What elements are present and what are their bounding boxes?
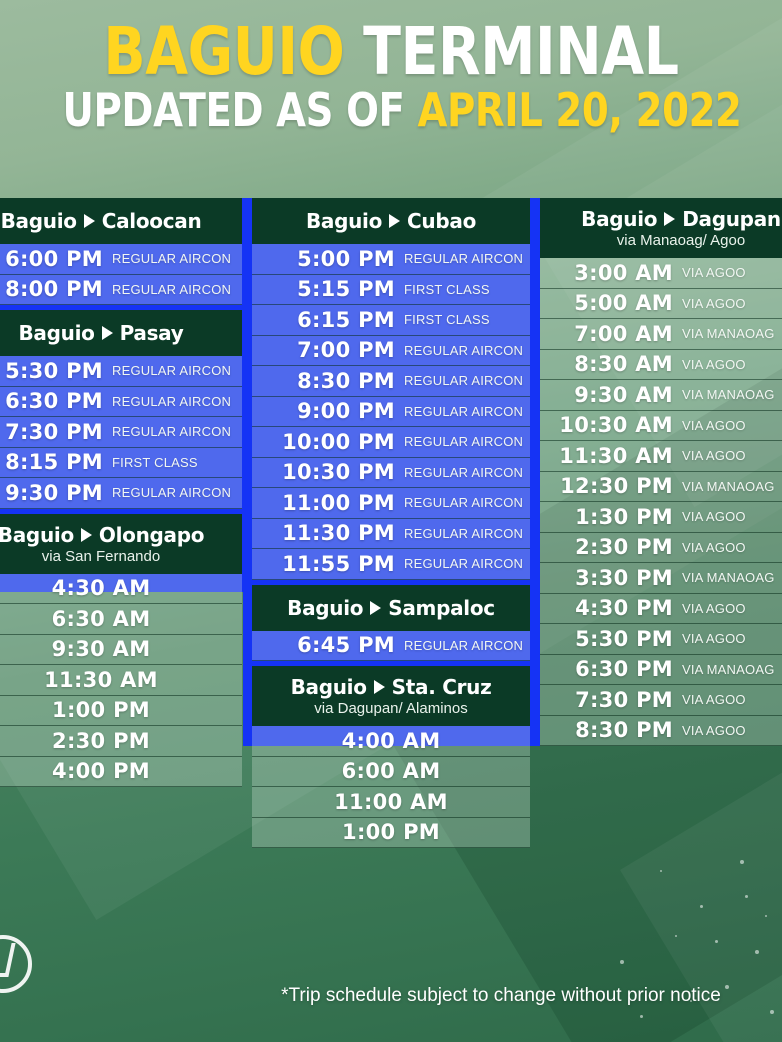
route-destination: Olongapo [99, 523, 204, 547]
route-via: via San Fernando [0, 548, 236, 565]
trip-class: FIRST CLASS [404, 282, 530, 297]
arrow-right-icon [389, 214, 400, 228]
trip-class: VIA AGOO [682, 540, 782, 555]
trip-list: 4:30 AM6:30 AM9:30 AM11:30 AM1:00 PM2:30… [0, 574, 242, 788]
title-line-primary: BAGUIO TERMINAL [63, 22, 720, 83]
section-header: BaguioPasay [0, 310, 242, 356]
route-title: BaguioSampaloc [258, 596, 524, 620]
poster-canvas: BAGUIO TERMINAL UPDATED AS OF APRIL 20, … [0, 0, 782, 1042]
trip-row[interactable]: 6:45 PMREGULAR AIRCON [252, 631, 530, 662]
trip-row[interactable]: 8:30 AMVIA AGOO [540, 350, 782, 381]
trip-row[interactable]: 5:00 PMREGULAR AIRCON [252, 244, 530, 275]
trip-time: 10:30 AM [540, 413, 682, 437]
trip-time: 1:30 PM [540, 505, 682, 529]
trip-time: 4:00 PM [52, 759, 150, 783]
decorative-dot [660, 870, 662, 872]
trip-time: 2:30 PM [540, 535, 682, 559]
trip-class: VIA AGOO [682, 357, 782, 372]
trip-row[interactable]: 5:30 PMVIA AGOO [540, 624, 782, 655]
route-title: BaguioPasay [0, 321, 236, 345]
route-destination: Caloocan [102, 209, 202, 233]
trip-row[interactable]: 1:00 PM [0, 696, 242, 727]
trip-row[interactable]: 9:00 PMREGULAR AIRCON [252, 397, 530, 428]
trip-row[interactable]: 9:30 AMVIA MANAOAG [540, 380, 782, 411]
trip-time: 3:00 AM [540, 261, 682, 285]
section-header: BaguioSampaloc [252, 585, 530, 631]
trip-class: REGULAR AIRCON [404, 434, 530, 449]
trip-list: 5:00 PMREGULAR AIRCON5:15 PMFIRST CLASS6… [252, 244, 530, 580]
title-line-secondary: UPDATED AS OF APRIL 20, 2022 [63, 89, 720, 131]
trip-row[interactable]: 8:15 PMFIRST CLASS [0, 448, 242, 479]
route-destination: Pasay [120, 321, 184, 345]
trip-class: VIA MANAOAG [682, 570, 782, 585]
trip-list: 5:30 PMREGULAR AIRCON6:30 PMREGULAR AIRC… [0, 356, 242, 509]
trip-class: VIA MANAOAG [682, 326, 782, 341]
route-origin: Baguio [18, 321, 94, 345]
footer-disclaimer: *Trip schedule subject to change without… [0, 985, 782, 1007]
schedule-section: BaguioSta. Cruzvia Dagupan/ Alaminos4:00… [252, 666, 530, 848]
trip-row[interactable]: 6:00 AM [252, 757, 530, 788]
trip-time: 4:30 PM [540, 596, 682, 620]
title-updated-label: UPDATED AS OF [63, 83, 405, 137]
trip-class: VIA AGOO [682, 296, 782, 311]
trip-time: 11:30 AM [44, 668, 158, 692]
route-destination: Cubao [407, 209, 476, 233]
trip-time: 6:00 AM [342, 759, 441, 783]
trip-row[interactable]: 11:55 PMREGULAR AIRCON [252, 549, 530, 580]
title-terminal: TERMINAL [363, 13, 678, 90]
schedule-section: BaguioPasay5:30 PMREGULAR AIRCON6:30 PMR… [0, 310, 242, 509]
trip-class: FIRST CLASS [112, 455, 242, 470]
trip-time: 5:30 PM [540, 627, 682, 651]
section-header: BaguioDagupanvia Manaoag/ Agoo [540, 198, 782, 258]
schedule-section: BaguioSampaloc6:45 PMREGULAR AIRCON [252, 585, 530, 662]
trip-class: REGULAR AIRCON [404, 556, 530, 571]
arrow-right-icon [370, 601, 381, 615]
trip-class: VIA AGOO [682, 448, 782, 463]
trip-row[interactable]: 10:30 PMREGULAR AIRCON [252, 458, 530, 489]
trip-time: 6:15 PM [252, 308, 404, 332]
trip-row[interactable]: 8:30 PMVIA AGOO [540, 716, 782, 747]
trip-row[interactable]: 8:30 PMREGULAR AIRCON [252, 366, 530, 397]
trip-row[interactable]: 11:00 PMREGULAR AIRCON [252, 488, 530, 519]
decorative-dot [675, 935, 677, 937]
trip-time: 11:30 PM [252, 521, 404, 545]
trip-row[interactable]: 4:30 PMVIA AGOO [540, 594, 782, 625]
decorative-dot [700, 905, 703, 908]
trip-list: 4:00 AM6:00 AM11:00 AM1:00 PM [252, 726, 530, 848]
trip-class: VIA AGOO [682, 601, 782, 616]
trip-row[interactable]: 6:30 PMVIA MANAOAG [540, 655, 782, 686]
trip-class: VIA AGOO [682, 418, 782, 433]
schedule-column-center: BaguioCubao5:00 PMREGULAR AIRCON5:15 PMF… [252, 198, 530, 848]
decorative-dot [755, 950, 759, 954]
route-via: via Manaoag/ Agoo [546, 232, 782, 249]
trip-time: 5:30 PM [0, 359, 112, 383]
trip-time: 6:00 PM [0, 247, 112, 271]
trip-time: 4:00 AM [342, 729, 441, 753]
trip-class: REGULAR AIRCON [404, 495, 530, 510]
trip-time: 11:30 AM [540, 444, 682, 468]
route-origin: Baguio [291, 675, 367, 699]
trip-class: REGULAR AIRCON [112, 424, 242, 439]
trip-row[interactable]: 6:30 AM [0, 604, 242, 635]
trip-row[interactable]: 4:30 AM [0, 574, 242, 605]
section-header: BaguioCaloocan [0, 198, 242, 244]
trip-row[interactable]: 5:15 PMFIRST CLASS [252, 275, 530, 306]
route-origin: Baguio [0, 523, 74, 547]
trip-row[interactable]: 7:00 AMVIA MANAOAG [540, 319, 782, 350]
trip-row[interactable]: 6:00 PMREGULAR AIRCON [0, 244, 242, 275]
trip-time: 3:30 PM [540, 566, 682, 590]
trip-time: 9:00 PM [252, 399, 404, 423]
trip-row[interactable]: 11:30 AM [0, 665, 242, 696]
trip-time: 8:30 AM [540, 352, 682, 376]
decorative-dot [740, 860, 744, 864]
trip-time: 5:00 PM [252, 247, 404, 271]
trip-row[interactable]: 7:30 PMVIA AGOO [540, 685, 782, 716]
decorative-dot [765, 915, 767, 917]
trip-row[interactable]: 11:30 PMREGULAR AIRCON [252, 519, 530, 550]
arrow-right-icon [81, 528, 92, 542]
trip-time: 10:00 PM [252, 430, 404, 454]
trip-time: 2:30 PM [52, 729, 150, 753]
trip-class: REGULAR AIRCON [404, 404, 530, 419]
route-title: BaguioOlongapo [0, 523, 236, 547]
trip-class: VIA AGOO [682, 692, 782, 707]
trip-class: VIA MANAOAG [682, 479, 782, 494]
trip-time: 6:30 PM [0, 389, 112, 413]
trip-row[interactable]: 9:30 AM [0, 635, 242, 666]
decorative-dot [620, 960, 624, 964]
trip-list: 6:45 PMREGULAR AIRCON [252, 631, 530, 662]
schedule-section: BaguioCaloocan6:00 PMREGULAR AIRCON8:00 … [0, 198, 242, 305]
arrow-right-icon [664, 212, 675, 226]
trip-list: 6:00 PMREGULAR AIRCON8:00 PMREGULAR AIRC… [0, 244, 242, 305]
trip-row[interactable]: 9:30 PMREGULAR AIRCON [0, 478, 242, 509]
trip-time: 11:00 AM [334, 790, 448, 814]
trip-row[interactable]: 10:00 PMREGULAR AIRCON [252, 427, 530, 458]
trip-row[interactable]: 8:00 PMREGULAR AIRCON [0, 275, 242, 306]
trip-row[interactable]: 6:30 PMREGULAR AIRCON [0, 387, 242, 418]
trip-time: 12:30 PM [540, 474, 682, 498]
arrow-right-icon [84, 214, 95, 228]
trip-time: 1:00 PM [342, 820, 440, 844]
route-origin: Baguio [287, 596, 363, 620]
trip-time: 10:30 PM [252, 460, 404, 484]
trip-time: 8:15 PM [0, 450, 112, 474]
trip-time: 8:30 PM [540, 718, 682, 742]
decorative-dot [745, 895, 748, 898]
trip-time: 8:30 PM [252, 369, 404, 393]
trip-row[interactable]: 4:00 PM [0, 757, 242, 788]
trip-time: 6:45 PM [252, 633, 404, 657]
trip-time: 4:30 AM [52, 576, 151, 600]
trip-row[interactable]: 7:30 PMREGULAR AIRCON [0, 417, 242, 448]
trip-class: REGULAR AIRCON [112, 282, 242, 297]
title-city: BAGUIO [103, 13, 344, 90]
trip-time: 6:30 AM [52, 607, 151, 631]
trip-row[interactable]: 2:30 PM [0, 726, 242, 757]
trip-class: REGULAR AIRCON [404, 343, 530, 358]
trip-row[interactable]: 3:00 AMVIA AGOO [540, 258, 782, 289]
trip-time: 7:30 PM [540, 688, 682, 712]
trip-time: 11:00 PM [252, 491, 404, 515]
trip-class: VIA AGOO [682, 265, 782, 280]
trip-row[interactable]: 6:15 PMFIRST CLASS [252, 305, 530, 336]
decorative-dot [715, 940, 718, 943]
route-title: BaguioSta. Cruz [258, 675, 524, 699]
trip-row[interactable]: 10:30 AMVIA AGOO [540, 411, 782, 442]
route-origin: Baguio [581, 207, 657, 231]
trip-row[interactable]: 1:30 PMVIA AGOO [540, 502, 782, 533]
trip-row[interactable]: 2:30 PMVIA AGOO [540, 533, 782, 564]
route-title: BaguioDagupan [546, 207, 782, 231]
trip-time: 7:00 PM [252, 338, 404, 362]
arrow-right-icon [102, 326, 113, 340]
trip-class: REGULAR AIRCON [404, 373, 530, 388]
trip-time: 5:00 AM [540, 291, 682, 315]
route-destination: Sampaloc [388, 596, 495, 620]
trip-time: 7:30 PM [0, 420, 112, 444]
trip-class: VIA AGOO [682, 509, 782, 524]
schedule-section: BaguioDagupanvia Manaoag/ Agoo3:00 AMVIA… [540, 198, 782, 746]
trip-row[interactable]: 5:00 AMVIA AGOO [540, 289, 782, 320]
title-updated-date: APRIL 20, 2022 [418, 83, 742, 137]
section-header: BaguioCubao [252, 198, 530, 244]
trip-time: 7:00 AM [540, 322, 682, 346]
trip-row[interactable]: 1:00 PM [252, 818, 530, 849]
trip-time: 8:00 PM [0, 277, 112, 301]
schedule-section: BaguioCubao5:00 PMREGULAR AIRCON5:15 PMF… [252, 198, 530, 580]
trip-class: FIRST CLASS [404, 312, 530, 327]
trip-row[interactable]: 12:30 PMVIA MANAOAG [540, 472, 782, 503]
trip-row[interactable]: 3:30 PMVIA MANAOAG [540, 563, 782, 594]
schedule-column-right: BaguioDagupanvia Manaoag/ Agoo3:00 AMVIA… [540, 198, 782, 746]
route-destination: Dagupan [682, 207, 781, 231]
trip-class: REGULAR AIRCON [404, 526, 530, 541]
trip-time: 5:15 PM [252, 277, 404, 301]
trip-row[interactable]: 4:00 AM [252, 726, 530, 757]
schedule-column-left: BaguioCaloocan6:00 PMREGULAR AIRCON8:00 … [0, 198, 242, 787]
route-via: via Dagupan/ Alaminos [258, 700, 524, 717]
arrow-right-icon [374, 680, 385, 694]
decorative-dot [640, 1015, 643, 1018]
trip-class: VIA AGOO [682, 723, 782, 738]
trip-class: REGULAR AIRCON [112, 251, 242, 266]
trip-time: 9:30 AM [52, 637, 151, 661]
decorative-dot [770, 1010, 774, 1014]
section-header: BaguioSta. Cruzvia Dagupan/ Alaminos [252, 666, 530, 726]
trip-list: 3:00 AMVIA AGOO5:00 AMVIA AGOO7:00 AMVIA… [540, 258, 782, 746]
trip-time: 9:30 AM [540, 383, 682, 407]
route-title: BaguioCubao [258, 209, 524, 233]
trip-row[interactable]: 11:30 AMVIA AGOO [540, 441, 782, 472]
route-destination: Sta. Cruz [392, 675, 492, 699]
trip-time: 9:30 PM [0, 481, 112, 505]
trip-class: REGULAR AIRCON [404, 638, 530, 653]
trip-time: 6:30 PM [540, 657, 682, 681]
trip-class: REGULAR AIRCON [112, 363, 242, 378]
trip-class: REGULAR AIRCON [112, 485, 242, 500]
trip-class: VIA MANAOAG [682, 662, 782, 677]
poster-title: BAGUIO TERMINAL UPDATED AS OF APRIL 20, … [0, 22, 782, 131]
trip-row[interactable]: 5:30 PMREGULAR AIRCON [0, 356, 242, 387]
schedule-section: BaguioOlongapovia San Fernando4:30 AM6:3… [0, 514, 242, 788]
trip-class: VIA AGOO [682, 631, 782, 646]
trip-class: VIA MANAOAG [682, 387, 782, 402]
trip-class: REGULAR AIRCON [112, 394, 242, 409]
trip-class: REGULAR AIRCON [404, 465, 530, 480]
trip-time: 11:55 PM [252, 552, 404, 576]
route-origin: Baguio [306, 209, 382, 233]
section-header: BaguioOlongapovia San Fernando [0, 514, 242, 574]
trip-row[interactable]: 11:00 AM [252, 787, 530, 818]
trip-class: REGULAR AIRCON [404, 251, 530, 266]
trip-row[interactable]: 7:00 PMREGULAR AIRCON [252, 336, 530, 367]
route-title: BaguioCaloocan [0, 209, 236, 233]
trip-time: 1:00 PM [52, 698, 150, 722]
route-origin: Baguio [1, 209, 77, 233]
